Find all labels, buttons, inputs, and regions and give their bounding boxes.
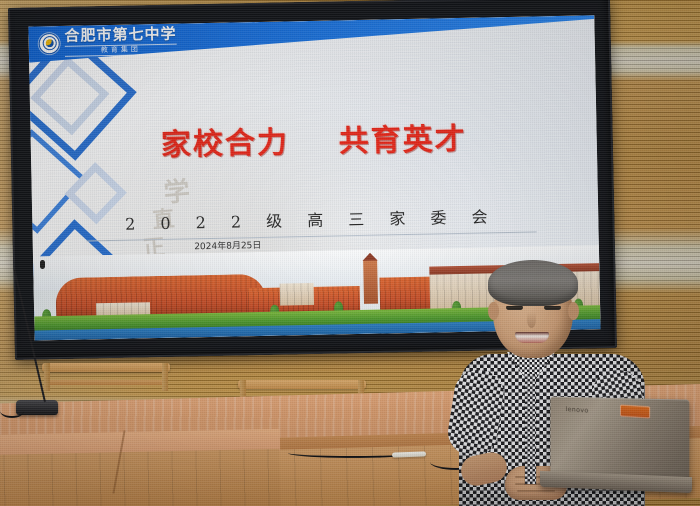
chair-left[interactable]: [42, 363, 170, 393]
laptop-sticker: [620, 405, 650, 419]
chair-post: [162, 363, 168, 391]
chair-post: [44, 363, 50, 391]
school-logo: 合肥市第七中学 教育集团: [38, 27, 177, 58]
nose: [527, 312, 536, 328]
campus-building: [55, 274, 266, 318]
photo-scene: 学 直 正 为 师 合肥市第七中学 教育集团 家校合力 共育英才: [0, 0, 700, 506]
ear-left: [488, 302, 499, 320]
microphone-head-left: [40, 260, 45, 269]
chair-backrest: [42, 363, 170, 372]
campus-clock-tower: [363, 260, 378, 304]
school-crest-icon: [39, 32, 60, 53]
mouth-smiling: [515, 332, 549, 343]
shirt-placket: [525, 374, 536, 484]
campus-building: [280, 283, 314, 306]
laptop-lid: lenovo: [550, 396, 689, 483]
microphone-cable: [0, 404, 24, 418]
hair: [488, 260, 578, 306]
eye-left: [506, 306, 523, 310]
school-name: 合肥市第七中学: [64, 27, 176, 44]
school-subtitle: 教育集团: [65, 44, 177, 57]
chair-rail: [46, 380, 166, 385]
ear-right: [568, 302, 579, 320]
lenovo-logo: lenovo: [565, 405, 588, 414]
chair-backrest: [238, 380, 366, 389]
eye-right: [544, 306, 561, 310]
side-desk-front-panel: [0, 449, 281, 506]
laptop[interactable]: lenovo: [540, 398, 692, 506]
